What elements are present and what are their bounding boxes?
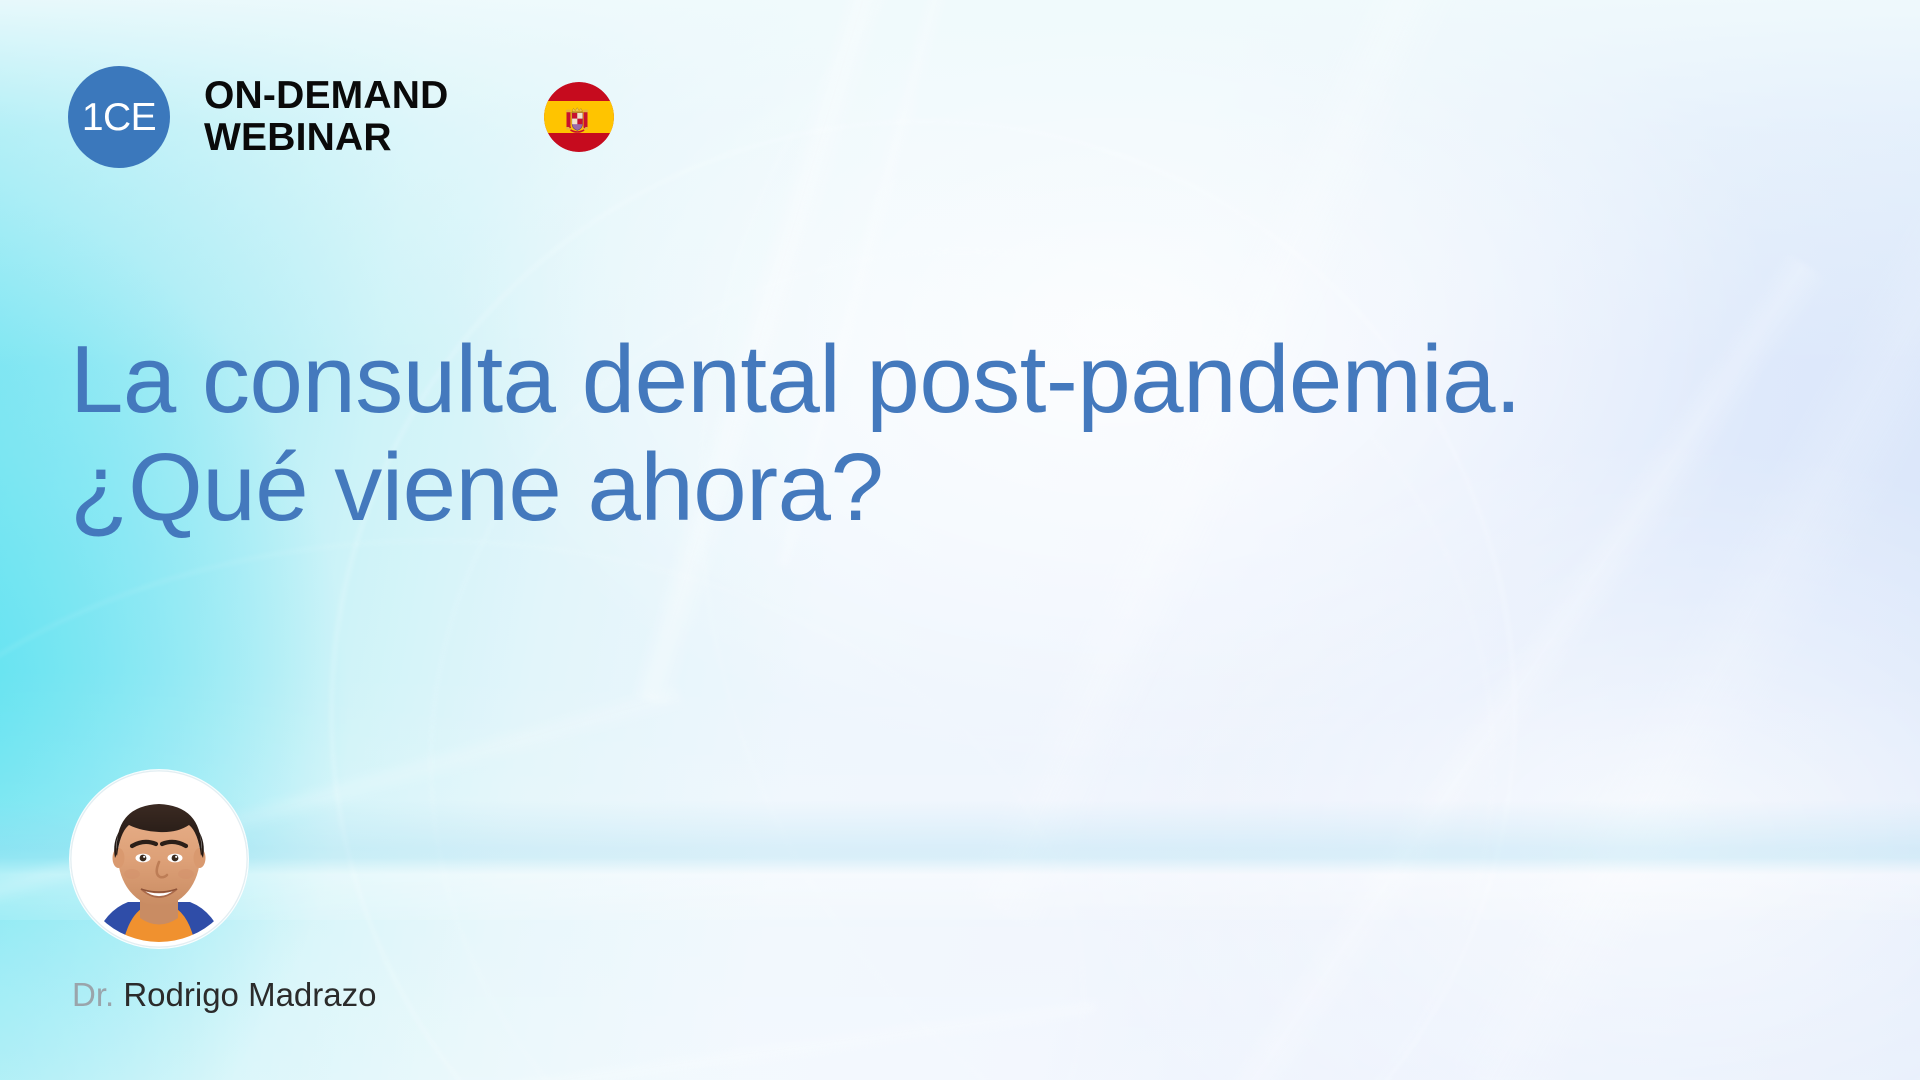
speaker-name-text: Rodrigo Madrazo [123,976,376,1013]
spain-flag-icon [544,82,614,152]
speaker-name: Dr. Rodrigo Madrazo [72,975,376,1015]
background-horizon-band [0,800,1920,920]
page-title: La consulta dental post-pandemia. ¿Qué v… [70,326,1830,541]
speaker-avatar [70,770,248,948]
speaker-honorific: Dr. [72,976,114,1013]
webinar-header: 1CE ON-DEMAND WEBINAR [68,66,614,168]
background-arc [330,120,1516,1080]
webinar-type-label: ON-DEMAND WEBINAR [204,75,448,158]
webinar-title-slide: 1CE ON-DEMAND WEBINAR [0,0,1920,1080]
ce-credit-badge-label: 1CE [82,98,156,137]
ce-credit-badge: 1CE [68,66,170,168]
background-streak [1441,100,1920,1080]
